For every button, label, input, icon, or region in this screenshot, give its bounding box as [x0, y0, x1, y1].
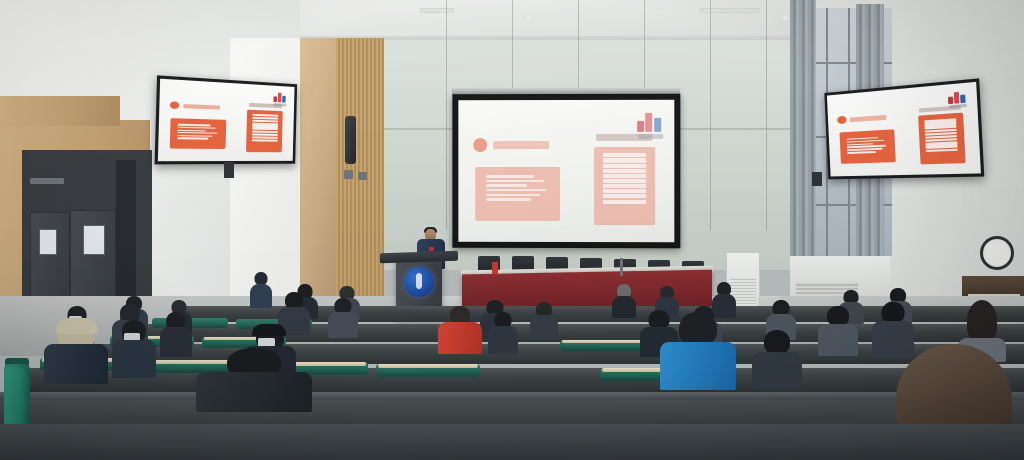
person-row3-3: [160, 312, 192, 354]
person-row3-8: [818, 306, 858, 354]
slide-left-textbox: [839, 130, 896, 164]
wall-clock-icon: [980, 236, 1014, 270]
slide-right-list: [594, 147, 655, 225]
window-curtain-left[interactable]: [790, 0, 816, 272]
wood-column-center-side: [300, 38, 336, 300]
tv-right-screen: [827, 82, 981, 177]
person-row2-2: [112, 320, 156, 374]
person-beige-flat-cap: [44, 312, 108, 374]
slide-right-list: [918, 113, 965, 164]
main-projection-screen: [452, 94, 680, 249]
presenter-badge: [429, 247, 434, 251]
slide-right-list: [246, 109, 283, 151]
slide-bullet-icon: [473, 138, 487, 151]
slide-title-text: [183, 104, 220, 110]
table-flag-marker: [492, 262, 498, 274]
conference-hall-photo: [0, 0, 1024, 460]
ceiling-vent: [420, 8, 454, 13]
wood-wall-panel-left-top: [0, 96, 120, 126]
person-foreground-dark: [196, 348, 312, 404]
desk-front-edge: [0, 392, 1024, 400]
wall-speaker-icon: [345, 116, 356, 164]
projection-surface: [458, 100, 674, 242]
front-desk-surface: [0, 424, 1024, 460]
ceiling-light-icon: [525, 14, 532, 21]
person-blue-hoodie: [660, 312, 736, 382]
door-top-trim: [30, 178, 64, 184]
person-row3-5: [488, 312, 518, 352]
lectern-emblem-icon: [404, 267, 434, 297]
wall-tv-left: [155, 75, 298, 164]
wall-fixture-icon: [344, 170, 353, 179]
person-row4-6: [530, 302, 558, 336]
tv-left-mount: [224, 162, 234, 178]
tv-right-mount: [812, 172, 822, 186]
person-row4-4: [328, 298, 358, 336]
green-thermos: [4, 364, 30, 430]
wood-slat-column-center: [336, 38, 384, 300]
tv-left-screen: [158, 79, 295, 162]
person-red-jacket: [438, 306, 482, 352]
person-row2-5: [752, 330, 802, 382]
slide-left-textbox: [170, 118, 226, 149]
slide-right-heading: [919, 105, 961, 112]
table-microphone-icon: [620, 258, 623, 276]
slide-left-textbox: [476, 167, 560, 221]
slide-right-heading: [596, 134, 652, 141]
slide-title-text: [493, 141, 549, 149]
ceiling-vent: [700, 8, 760, 13]
exit-door-right[interactable]: [70, 210, 116, 300]
door-jamb: [116, 160, 136, 300]
slide-title-text: [850, 115, 887, 122]
wall-fixture-icon: [358, 172, 367, 180]
slide-bullet-icon: [170, 101, 180, 109]
slide-right-heading: [249, 103, 282, 108]
ceiling-light-icon: [782, 14, 789, 21]
slide-bullet-icon: [837, 116, 846, 124]
person-back-1: [250, 272, 272, 306]
exit-door-left[interactable]: [30, 212, 70, 300]
person-back-4: [612, 284, 636, 314]
wall-tv-right: [824, 78, 984, 179]
